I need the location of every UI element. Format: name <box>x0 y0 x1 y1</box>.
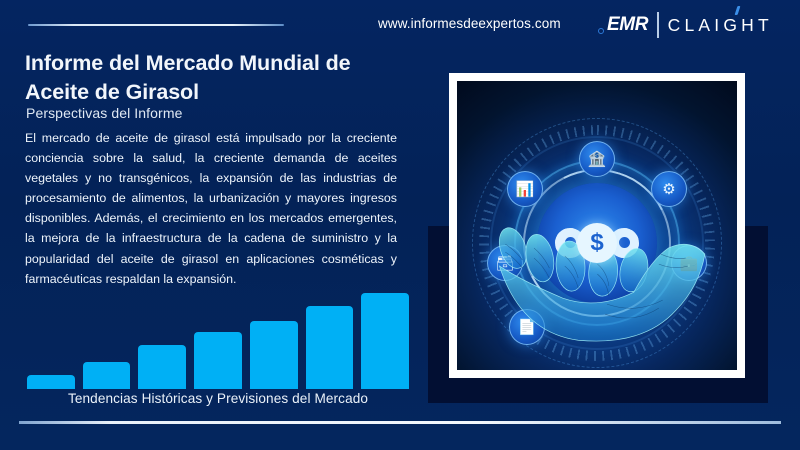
chart-caption: Tendencias Históricas y Previsiones del … <box>27 391 409 406</box>
circle-dot-icon <box>598 28 604 34</box>
bar-6 <box>306 306 354 389</box>
dollar-gear-icon: $ <box>537 183 657 303</box>
logo-emr-text: EMR <box>607 14 648 36</box>
logo-divider <box>657 12 659 38</box>
logo-claight-text: CLAIGHT <box>668 15 773 36</box>
market-trends-bar-chart <box>27 288 409 389</box>
document-icon: 📄 <box>509 309 545 345</box>
site-url-text: www.informesdeexpertos.com <box>378 16 561 31</box>
bar-series <box>27 288 409 389</box>
bar-5 <box>250 321 298 389</box>
page-title: Informe del Mercado Mundial de Aceite de… <box>25 49 395 106</box>
section-subtitle: Perspectivas del Informe <box>26 105 182 121</box>
settings-people-icon: ⚙ <box>651 171 687 207</box>
slide-canvas: www.informesdeexpertos.com EMR CLAIGHT I… <box>0 0 800 450</box>
bar-3 <box>138 345 186 389</box>
bar-7 <box>361 293 409 389</box>
calculator-icon: 🗃 <box>487 245 523 281</box>
bar-4 <box>194 332 242 389</box>
dollar-coin-icon: $ <box>577 223 617 263</box>
bank-icon: 🏦 <box>579 141 615 177</box>
header-rule-divider <box>28 24 284 26</box>
body-paragraph: El mercado de aceite de girasol está imp… <box>25 128 397 289</box>
bar-2 <box>83 362 131 389</box>
brand-logo: EMR CLAIGHT <box>598 8 773 42</box>
bar-1 <box>27 375 75 389</box>
briefcase-icon: 💼 <box>671 245 707 281</box>
photo-frame: $ 🏦 📊 ⚙ 🗃 💼 📄 <box>449 73 745 378</box>
footer-rule-divider <box>19 421 781 424</box>
bar-chart-icon: 📊 <box>507 171 543 207</box>
spark-icon <box>734 6 740 15</box>
digital-finance-hand-illustration: $ 🏦 📊 ⚙ 🗃 💼 📄 <box>457 81 737 370</box>
